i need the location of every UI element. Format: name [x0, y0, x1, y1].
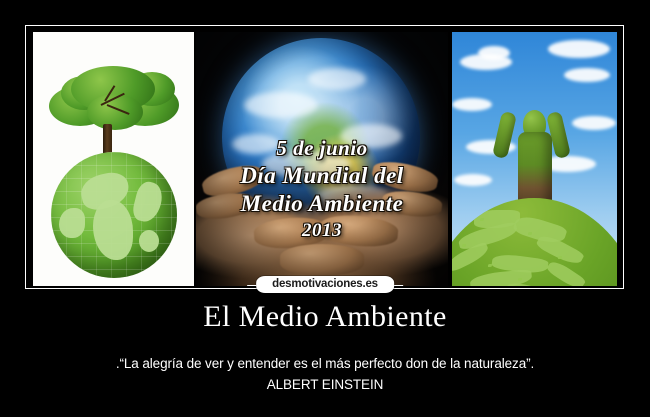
green-globe-icon — [51, 152, 177, 278]
poster-quote: .“La alegría de ver y entender es el más… — [0, 356, 650, 371]
panel-earth-hands: 5 de junio Día Mundial del Medio Ambient… — [196, 32, 448, 286]
poster-author: ALBERT EINSTEIN — [0, 377, 650, 392]
overlay-line-medio-ambiente: Medio Ambiente — [196, 192, 448, 215]
watermark-badge: desmotivaciones.es — [256, 276, 394, 293]
overlay-line-year: 2013 — [196, 221, 448, 240]
demotivational-poster: 5 de junio Día Mundial del Medio Ambient… — [0, 0, 650, 417]
panel-ivy-man — [452, 32, 617, 286]
overlay-line-date: 5 de junio — [196, 138, 448, 159]
poster-title: El Medio Ambiente — [0, 300, 650, 334]
cloud-icon — [452, 98, 492, 111]
cloud-icon — [564, 68, 610, 82]
cloud-icon — [572, 116, 616, 130]
panel-tree-globe — [33, 32, 194, 286]
center-overlay-text: 5 de junio Día Mundial del Medio Ambient… — [196, 138, 448, 240]
image-panel-group: 5 de junio Día Mundial del Medio Ambient… — [33, 32, 617, 286]
cloud-icon — [548, 40, 610, 58]
overlay-line-dia-mundial: Día Mundial del — [196, 164, 448, 187]
cloud-icon — [478, 46, 510, 60]
cloud-icon — [454, 174, 492, 186]
tree-canopy-icon — [49, 64, 179, 136]
